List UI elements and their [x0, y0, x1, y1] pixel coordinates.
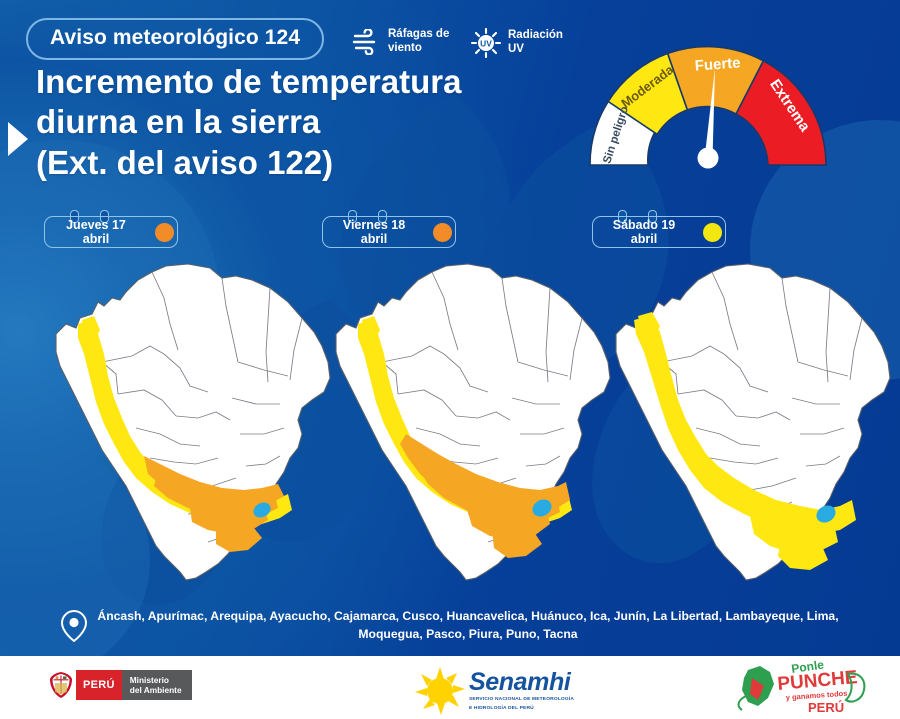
severity-dot	[433, 223, 452, 242]
infographic-root: Aviso meteorológico 124 Incremento de te…	[0, 0, 900, 719]
arrow-marker-icon	[8, 122, 28, 156]
map-sabado-19	[600, 258, 900, 588]
svg-text:UV: UV	[480, 39, 492, 49]
uv-radiation-icon: UV	[470, 28, 502, 58]
affected-regions-text: Áncash, Apurímac, Arequipa, Ayacucho, Ca…	[97, 608, 838, 643]
hazard-wind-gust: Ráfagas de viento	[352, 28, 449, 55]
severity-dot	[155, 223, 174, 242]
date-badge-text: Jueves 17 abril	[48, 218, 144, 246]
advisory-number-badge: Aviso meteorológico 124	[26, 18, 324, 60]
hazard-wind-gust-label: Ráfagas de viento	[388, 28, 449, 55]
senamhi-sun-icon	[413, 665, 467, 717]
regions-line-2: Moquegua, Pasco, Piura, Puno, Tacna	[358, 627, 577, 641]
gauge-label-fuerte: Fuerte	[694, 54, 741, 74]
senamhi-subtitle-2: E HIDROLOGÍA DEL PERÚ	[469, 706, 574, 712]
map-viernes-18	[320, 258, 620, 588]
minam-line-2: del Ambiente	[130, 685, 182, 695]
date-day-name: Jueves 17	[48, 218, 144, 232]
punche-line-4: PERÚ	[808, 700, 844, 714]
wind-label-line2: viento	[388, 42, 449, 56]
date-badge-text: Sábado 19 abril	[596, 218, 692, 246]
date-badge-viernes-18[interactable]: Viernes 18 abril	[322, 208, 458, 250]
headline-line-2: diurna en la sierra	[36, 102, 596, 142]
logo-ponle-punche-peru: Ponle PUNCHE y ganamos todos PERÚ	[730, 660, 880, 719]
hazard-uv-radiation: UV Radiación UV	[470, 28, 563, 58]
minam-line-1: Ministerio	[130, 675, 182, 685]
minam-ministry-label: Ministerio del Ambiente	[122, 670, 192, 700]
logo-ministerio-ambiente: PERÚ Ministerio del Ambiente	[46, 670, 192, 700]
regions-line-1: Áncash, Apurímac, Arequipa, Ayacucho, Ca…	[97, 609, 838, 623]
date-month: abril	[596, 232, 692, 246]
logo-senamhi: Senamhi SERVICIO NACIONAL DE METEOROLOGÍ…	[413, 665, 574, 717]
uv-label-line1: Radiación	[508, 29, 563, 43]
date-day-name: Sábado 19	[596, 218, 692, 232]
date-month: abril	[48, 232, 144, 246]
date-badge-sabado-19[interactable]: Sábado 19 abril	[592, 208, 728, 250]
senamhi-subtitle-1: SERVICIO NACIONAL DE METEOROLOGÍA	[469, 697, 574, 703]
hazard-uv-label: Radiación UV	[508, 29, 563, 56]
headline-line-3: (Ext. del aviso 122)	[36, 143, 596, 183]
page-title: Incremento de temperatura diurna en la s…	[36, 62, 596, 183]
senamhi-name: Senamhi	[469, 670, 574, 695]
affected-regions: Áncash, Apurímac, Arequipa, Ayacucho, Ca…	[0, 598, 900, 654]
uv-label-line2: UV	[508, 43, 563, 57]
date-day-name: Viernes 18	[326, 218, 422, 232]
severity-gauge: Sin peligro Moderada Fuerte Extrema	[588, 28, 878, 178]
map-jueves-17	[40, 258, 340, 588]
headline-line-1: Incremento de temperatura	[36, 62, 596, 102]
date-month: abril	[326, 232, 422, 246]
wind-label-line1: Ráfagas de	[388, 28, 449, 42]
peru-coat-of-arms-icon	[46, 670, 76, 700]
date-badge-jueves-17[interactable]: Jueves 17 abril	[44, 208, 180, 250]
date-badge-text: Viernes 18 abril	[326, 218, 422, 246]
location-pin-icon	[61, 610, 87, 642]
minam-country-label: PERÚ	[76, 670, 122, 700]
severity-dot	[703, 223, 722, 242]
wind-gust-icon	[352, 29, 382, 55]
